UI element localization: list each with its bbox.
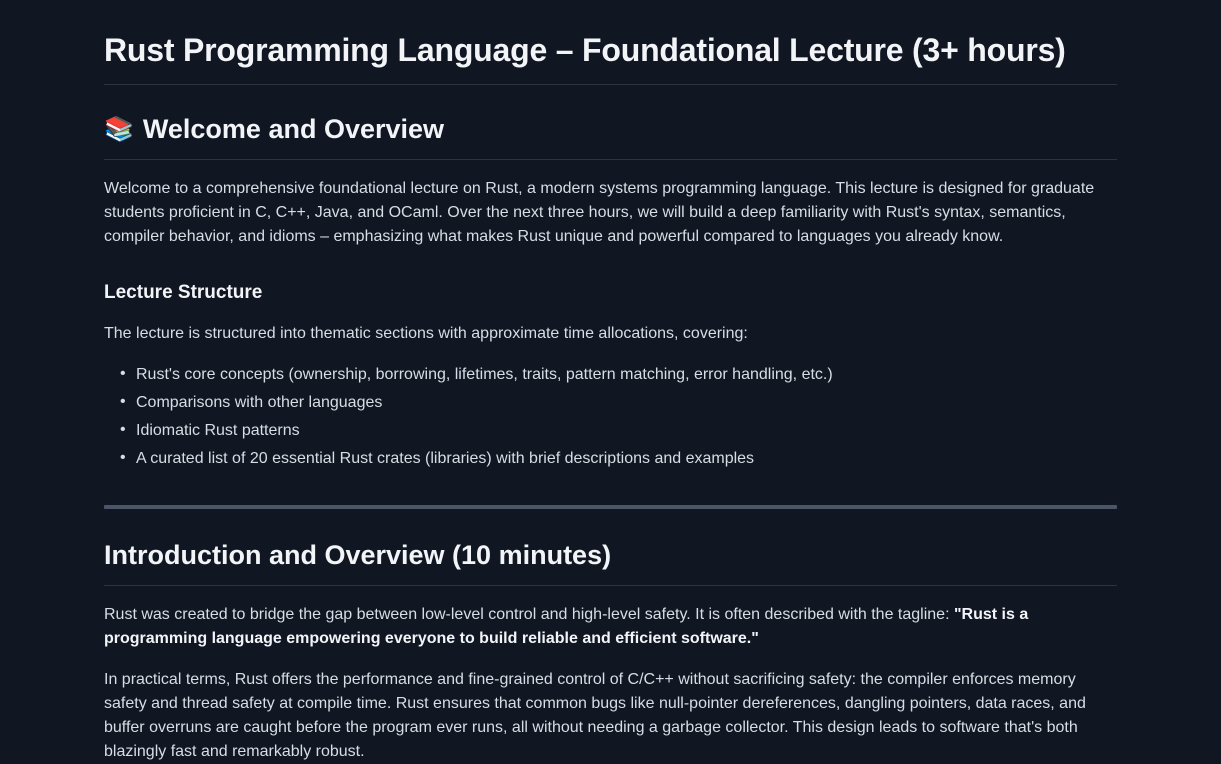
books-emoji-icon: 📚 bbox=[104, 118, 134, 142]
tagline-paragraph: Rust was created to bridge the gap betwe… bbox=[104, 603, 1117, 651]
section-heading-welcome-label: Welcome and Overview bbox=[143, 113, 444, 147]
section-divider bbox=[104, 505, 1117, 509]
section-heading-welcome: 📚 Welcome and Overview bbox=[104, 113, 1117, 160]
lecture-structure-list: Rust's core concepts (ownership, borrowi… bbox=[104, 363, 1117, 471]
document-page: Rust Programming Language – Foundational… bbox=[104, 0, 1117, 764]
tagline-lead-text: Rust was created to bridge the gap betwe… bbox=[104, 606, 954, 623]
subheading-lecture-structure: Lecture Structure bbox=[104, 281, 1117, 306]
page-title: Rust Programming Language – Foundational… bbox=[104, 30, 1117, 85]
practical-terms-paragraph: In practical terms, Rust offers the perf… bbox=[104, 668, 1117, 764]
list-item: A curated list of 20 essential Rust crat… bbox=[136, 447, 1117, 471]
list-item: Rust's core concepts (ownership, borrowi… bbox=[136, 363, 1117, 387]
welcome-intro-paragraph: Welcome to a comprehensive foundational … bbox=[104, 177, 1117, 249]
lecture-structure-intro: The lecture is structured into thematic … bbox=[104, 322, 1117, 346]
list-item: Idiomatic Rust patterns bbox=[136, 419, 1117, 443]
section-heading-introduction: Introduction and Overview (10 minutes) bbox=[104, 539, 1117, 586]
list-item: Comparisons with other languages bbox=[136, 391, 1117, 415]
section-heading-introduction-label: Introduction and Overview (10 minutes) bbox=[104, 539, 611, 573]
